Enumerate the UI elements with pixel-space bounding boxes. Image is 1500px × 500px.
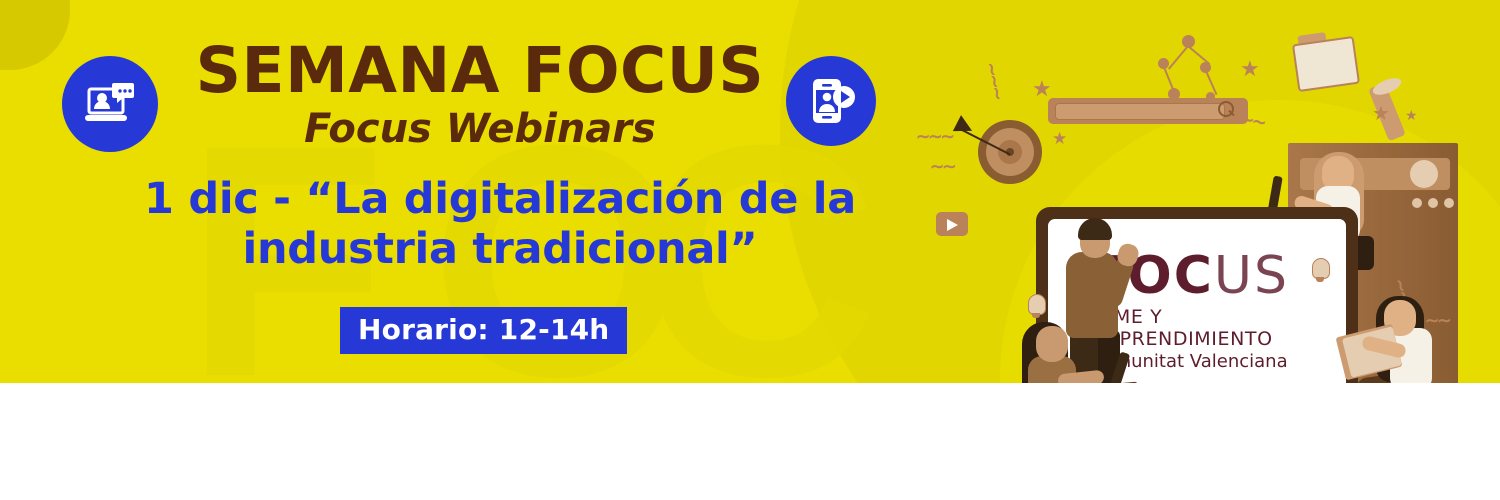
star-icon: ★ (1032, 78, 1052, 100)
star-icon: ★ (1052, 130, 1067, 147)
title-group: SEMANA FOCUS Focus Webinars (180, 38, 780, 152)
squiggle-icon: ∼∼∼ (916, 128, 953, 145)
molecule-node (1158, 58, 1169, 69)
promo-banner: F O C SEMANA FOCUS Focus Webinars (0, 0, 1500, 500)
lightbulb-icon (1028, 294, 1046, 315)
squiggle-icon: ∼∼ (1239, 110, 1266, 132)
molecule-node (1200, 62, 1211, 73)
session-title-line1: 1 dic - “La digitalización de la (144, 174, 856, 224)
play-triangle (947, 219, 958, 231)
squiggle-icon: ∼∼∼ (982, 61, 1006, 100)
focus-logo-tagline: PYME Y EMPRENDIMIENTO (1090, 306, 1310, 350)
folder-icon (1292, 36, 1360, 92)
squiggle-icon: ∼∼ (1425, 312, 1450, 329)
molecule-node (1206, 92, 1215, 101)
lightbulb-icon (1312, 258, 1330, 279)
session-title-line2: industria tradicional” (100, 225, 900, 275)
tower-dot (1428, 198, 1438, 208)
molecule-icon (1182, 35, 1195, 48)
lightbulb-base (1316, 277, 1324, 282)
mobile-video-icon (786, 56, 876, 146)
molecule-node (1168, 88, 1180, 100)
search-bar-field (1055, 103, 1225, 120)
tower-knob (1410, 160, 1438, 188)
figure-head (1036, 326, 1068, 362)
session-title: 1 dic - “La digitalización de la industr… (100, 175, 900, 275)
headline-row: SEMANA FOCUS Focus Webinars (62, 38, 882, 166)
tower-dot (1444, 198, 1454, 208)
lightbulb-base (1032, 313, 1040, 318)
tower-dot (1412, 198, 1422, 208)
focus-logo-light: US (1214, 246, 1289, 306)
squiggle-icon: ∼∼ (930, 158, 955, 175)
molecule-bond (1168, 45, 1189, 69)
star-icon: ★ (1405, 108, 1418, 122)
schedule-badge: Horario: 12-14h (340, 307, 627, 354)
star-icon: ★ (1240, 58, 1260, 80)
sponsors-footer: FINANCIA: ORGANIZA: GENERALITAT VALENCIA… (0, 383, 1500, 500)
laptop-webinar-icon (62, 56, 158, 152)
page-title: SEMANA FOCUS (180, 38, 780, 104)
page-subtitle: Focus Webinars (180, 106, 780, 152)
star-icon: ★ (1372, 104, 1390, 124)
